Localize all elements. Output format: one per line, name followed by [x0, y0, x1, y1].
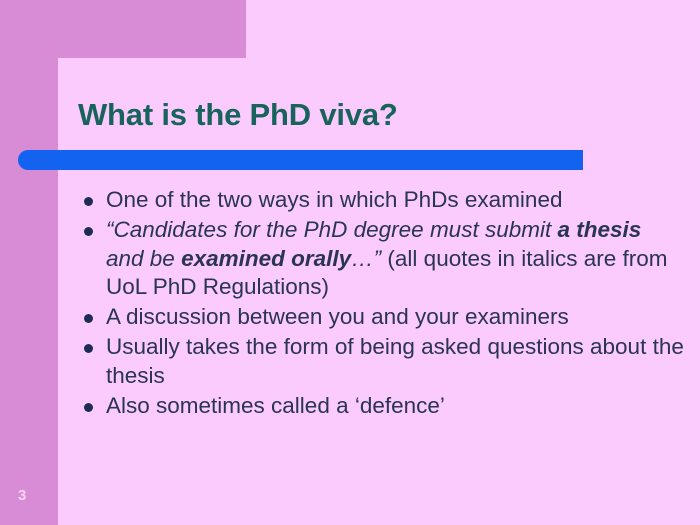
title-accent-bar [18, 150, 583, 170]
bullet-discussion-with-examiners: A discussion between you and your examin… [106, 303, 684, 332]
bullet-questions-about-thesis: Usually takes the form of being asked qu… [106, 333, 684, 391]
bullet-point-icon [84, 216, 106, 236]
presentation-slide: What is the PhD viva? One of the two way… [0, 0, 700, 525]
list-item: Usually takes the form of being asked qu… [84, 333, 684, 391]
bullet-point-icon [84, 392, 106, 412]
list-item: One of the two ways in which PhDs examin… [84, 186, 684, 215]
list-item: A discussion between you and your examin… [84, 303, 684, 332]
list-item: Also sometimes called a ‘defence’ [84, 392, 684, 421]
bullet-point-icon [84, 333, 106, 353]
page-title: What is the PhD viva? [78, 98, 658, 132]
left-decorative-band [0, 0, 58, 525]
bullet-list: One of the two ways in which PhDs examin… [84, 186, 684, 421]
slide-number: 3 [18, 487, 26, 504]
bullet-point-icon [84, 303, 106, 323]
bullet-called-a-defence: Also sometimes called a ‘defence’ [106, 392, 684, 421]
top-decorative-band [0, 0, 246, 58]
bullet-point-icon [84, 186, 106, 206]
bullet-regulations-quote: “Candidates for the PhD degree must subm… [106, 216, 684, 302]
list-item: “Candidates for the PhD degree must subm… [84, 216, 684, 302]
bullet-one-of-two-ways: One of the two ways in which PhDs examin… [106, 186, 684, 215]
